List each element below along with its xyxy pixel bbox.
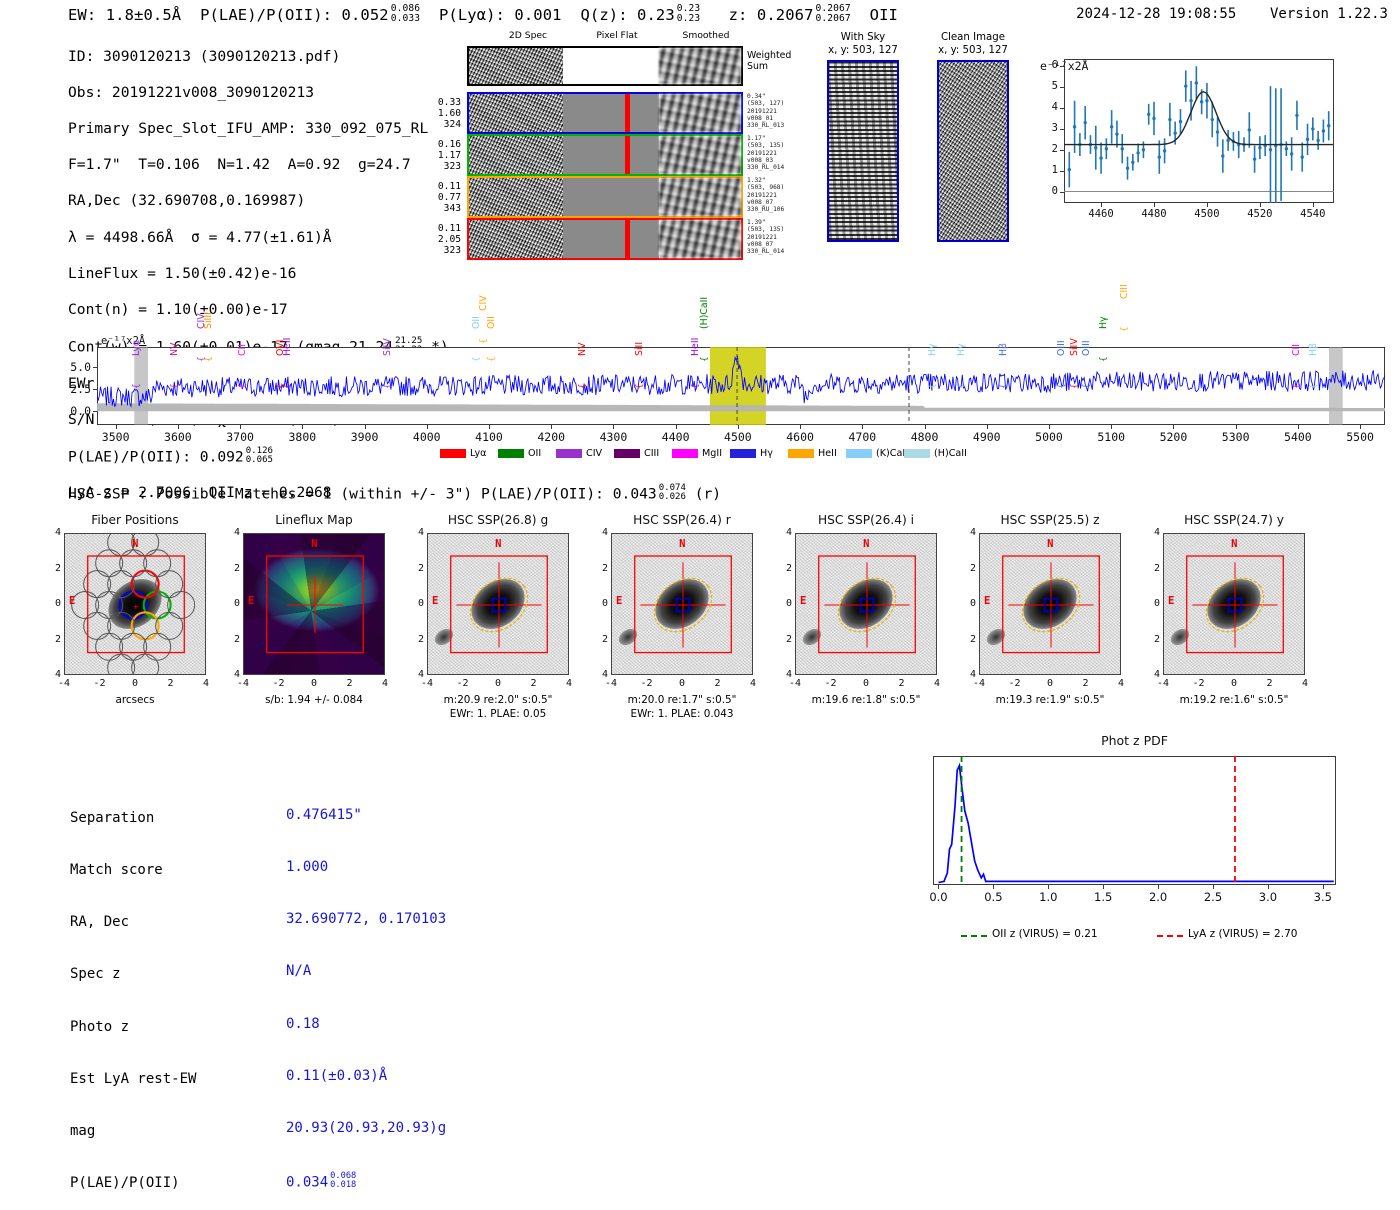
cutout-xtick-5-1: -2 bbox=[1004, 678, 1026, 689]
cutout-bottom-label1-4: m:19.6 re:1.8" s:0.5" bbox=[765, 694, 967, 706]
cutout-image-3[interactable] bbox=[611, 533, 753, 675]
linefit-ytick bbox=[1060, 108, 1064, 109]
emission-line-label-SiIV: SiIV bbox=[382, 338, 393, 356]
info-line-lambda-sigma: λ = 4498.66Å σ = 4.77(±1.61)Å bbox=[68, 229, 449, 247]
linefit-ytick bbox=[1060, 171, 1064, 172]
cutout-xtick-5-4: 4 bbox=[1110, 678, 1132, 689]
table-label-spec-z: Spec z bbox=[70, 966, 196, 983]
with-sky-title: With Sky bbox=[815, 32, 911, 44]
linefit-ytick-label: 0 bbox=[1042, 185, 1058, 197]
cutout-xtick-5-2: 0 bbox=[1039, 678, 1061, 689]
spectrum-xtick-label: 3600 bbox=[156, 430, 200, 444]
spectrum-xtick bbox=[676, 425, 677, 429]
photz-xtick-label: 2.5 bbox=[1195, 890, 1231, 904]
emission-line-brace: { bbox=[132, 383, 142, 389]
spectrum-xtick bbox=[240, 425, 241, 429]
photz-xtick bbox=[1268, 885, 1269, 889]
emission-line-label-H: Hγ bbox=[1098, 316, 1109, 329]
cutout-ytick-6-4: 4 bbox=[1146, 669, 1160, 680]
linefit-xtick bbox=[1154, 203, 1155, 207]
emission-line-brace: { bbox=[1292, 383, 1302, 389]
with-sky-subtitle: x, y: 503, 127 bbox=[808, 45, 918, 57]
cutout-ytick-1-3: 2 bbox=[226, 634, 240, 645]
photz-xtick bbox=[1103, 885, 1104, 889]
cutout-xtick-3-3: 2 bbox=[707, 678, 729, 689]
emission-line-brace: { bbox=[238, 383, 248, 389]
legend-swatch-KCaII bbox=[846, 449, 872, 458]
emission-line-label-OII: OII bbox=[486, 316, 497, 329]
spectrum-xtick bbox=[1236, 425, 1237, 429]
cutout-xtick-6-1: -2 bbox=[1188, 678, 1210, 689]
legend-swatch-MgII bbox=[672, 449, 698, 458]
cutout-xtick-1-4: 4 bbox=[374, 678, 396, 689]
table-value-mag: 20.93(20.93,20.93)g bbox=[286, 1120, 446, 1137]
photz-xtick-label: 1.5 bbox=[1085, 890, 1121, 904]
spectrum-ytick bbox=[93, 367, 97, 368]
emission-line-brace: { bbox=[999, 383, 1009, 389]
info-line-id: ID: 3090120213 (3090120213.pdf) bbox=[68, 48, 449, 66]
emission-line-label-HCaII: (H)CaII bbox=[699, 297, 710, 329]
info-plae-text: P(LAE)/P(OII): 0.092 bbox=[68, 448, 244, 465]
cutout-image-1[interactable] bbox=[243, 533, 385, 675]
header-timestamp: 2024-12-28 19:08:55 bbox=[1076, 6, 1236, 22]
photz-xtick bbox=[1158, 885, 1159, 889]
linefit-ytick-label: 6 bbox=[1042, 59, 1058, 71]
cutout-title-4: HSC SSP(26.4) i bbox=[773, 513, 959, 527]
spectrum-xtick bbox=[302, 425, 303, 429]
header-version: Version 1.22.3 bbox=[1270, 6, 1388, 22]
emission-line-brace: { bbox=[1120, 326, 1130, 332]
cutout-bottom-label1-6: m:19.2 re:1.6" s:0.5" bbox=[1133, 694, 1335, 706]
with-sky-image bbox=[827, 60, 899, 242]
linefit-xtick bbox=[1101, 203, 1102, 207]
table-value-radec: 32.690772, 0.170103 bbox=[286, 911, 446, 928]
cutout-image-5[interactable] bbox=[979, 533, 1121, 675]
cutout-xtick-1-1: -2 bbox=[268, 678, 290, 689]
header-z-lo: 0.2067 bbox=[816, 14, 851, 24]
legend-swatch-H bbox=[730, 449, 756, 458]
table-value-separation: 0.476415" bbox=[286, 807, 446, 824]
cutout-east-label-1: E bbox=[248, 595, 254, 607]
photz-xtick bbox=[1323, 885, 1324, 889]
cutout-ytick-2-0: 4 bbox=[410, 527, 424, 538]
legend-swatch-HeII bbox=[788, 449, 814, 458]
cutout-east-label-3: E bbox=[616, 595, 622, 607]
spectrum-xtick-label: 5400 bbox=[1276, 430, 1320, 444]
emission-line-brace: { bbox=[170, 383, 180, 389]
cutout-ytick-0-4: 4 bbox=[47, 669, 61, 680]
emission-line-brace: { bbox=[928, 383, 938, 389]
header-ew: EW: 1.8±0.5Å bbox=[68, 6, 181, 24]
linefit-ytick-label: 5 bbox=[1042, 80, 1058, 92]
cutout-xtick-4-2: 0 bbox=[855, 678, 877, 689]
hscssp-header-text: HSC-SSP : Possible Matches = 1 (within +… bbox=[68, 486, 657, 503]
linefit-ytick bbox=[1060, 129, 1064, 130]
cutout-north-label-2: N bbox=[495, 538, 501, 550]
header-qz: Q(z): 0.23 bbox=[580, 6, 674, 24]
emission-line-brace: { bbox=[1309, 383, 1319, 389]
header-plya: P(Lyα): 0.001 bbox=[439, 6, 562, 24]
cutout-north-label-0: N bbox=[132, 538, 138, 550]
spec2d-montage: 2D Spec Pixel Flat Smoothed Weighted Sum… bbox=[425, 30, 825, 260]
cutout-xtick-2-3: 2 bbox=[523, 678, 545, 689]
hscssp-header-tail: (r) bbox=[695, 486, 721, 503]
spectrum-xtick bbox=[800, 425, 801, 429]
spec2d-weighted-sum-label-1: Weighted bbox=[747, 50, 791, 61]
cutout-xtick-0-3: 2 bbox=[160, 678, 182, 689]
photz-xtick bbox=[1048, 885, 1049, 889]
spectrum-xtick-label: 4100 bbox=[467, 430, 511, 444]
cutout-ytick-5-0: 4 bbox=[962, 527, 976, 538]
emission-line-brace: { bbox=[487, 356, 497, 362]
cutout-ytick-5-1: 2 bbox=[962, 563, 976, 574]
legend-swatch-CIV bbox=[556, 449, 582, 458]
spectrum-xtick-label: 4000 bbox=[405, 430, 449, 444]
cutout-ytick-4-3: 2 bbox=[778, 634, 792, 645]
spectrum-xtick bbox=[862, 425, 863, 429]
cutout-xtick-3-1: -2 bbox=[636, 678, 658, 689]
cutout-ytick-6-3: 2 bbox=[1146, 634, 1160, 645]
emission-line-label-H: Hγ bbox=[927, 343, 938, 356]
spec2d-row-3 bbox=[467, 176, 743, 218]
cutout-xtick-6-4: 4 bbox=[1294, 678, 1316, 689]
cutout-xtick-3-2: 0 bbox=[671, 678, 693, 689]
emission-line-label-CIV: CIV bbox=[478, 295, 489, 311]
cutout-title-2: HSC SSP(26.8) g bbox=[405, 513, 591, 527]
cutout-north-label-5: N bbox=[1047, 538, 1053, 550]
cutout-title-1: Lineflux Map bbox=[221, 513, 407, 527]
legend-swatch-Ly bbox=[440, 449, 466, 458]
spectrum-ytick-label: 5.0 bbox=[57, 360, 91, 374]
spec2d-weighted-sum-label-2: Sum bbox=[747, 61, 768, 72]
cutout-bottom-label1-1: s/b: 1.94 +/- 0.084 bbox=[213, 694, 415, 706]
cutout-ytick-3-0: 4 bbox=[594, 527, 608, 538]
legend-label-HCaII: (H)CaII bbox=[934, 448, 967, 459]
photz-legend-label: OII z (VIRUS) = 0.21 bbox=[992, 928, 1098, 940]
legend-label-CIII: CIII bbox=[644, 448, 659, 459]
spec2d-row-1-right: 0.34" (503, 127) 20191221 v008_01 330_RL… bbox=[747, 93, 784, 129]
linefit-xtick bbox=[1207, 203, 1208, 207]
cutout-ytick-1-0: 4 bbox=[226, 527, 240, 538]
spectrum-xtick-label: 4500 bbox=[716, 430, 760, 444]
linefit-xtick bbox=[1313, 203, 1314, 207]
table-label-radec: RA, Dec bbox=[70, 914, 196, 931]
legend-swatch-CIII bbox=[614, 449, 640, 458]
spectrum-xtick bbox=[1049, 425, 1050, 429]
spectrum-xtick-label: 4700 bbox=[840, 430, 884, 444]
photz-xtick-label: 3.5 bbox=[1305, 890, 1341, 904]
cutout-ytick-4-1: 2 bbox=[778, 563, 792, 574]
spectrum-xtick bbox=[427, 425, 428, 429]
photz-xtick-label: 1.0 bbox=[1030, 890, 1066, 904]
spectrum-xtick-label: 5100 bbox=[1089, 430, 1133, 444]
legend-label-CIV: CIV bbox=[586, 448, 602, 459]
cutout-title-6: HSC SSP(24.7) y bbox=[1141, 513, 1327, 527]
emission-line-label-NV: NV bbox=[577, 343, 588, 356]
spectrum-xtick-label: 3700 bbox=[218, 430, 262, 444]
table-value-match-score: 1.000 bbox=[286, 859, 446, 876]
cutout-image-4[interactable] bbox=[795, 533, 937, 675]
source-info-block: ID: 3090120213 (3090120213.pdf) Obs: 201… bbox=[68, 30, 449, 520]
table-label-photo-z: Photo z bbox=[70, 1019, 196, 1036]
cutout-ytick-6-2: 0 bbox=[1146, 598, 1160, 609]
cutout-ytick-0-3: 2 bbox=[47, 634, 61, 645]
spectrum-xtick-label: 5000 bbox=[1027, 430, 1071, 444]
header-qz-lo: 0.23 bbox=[677, 14, 701, 24]
linefit-xtick-label: 4480 bbox=[1138, 208, 1170, 220]
emission-line-label-SiIII: SiIII bbox=[203, 312, 214, 329]
cutout-xtick-2-1: -2 bbox=[452, 678, 474, 689]
spectrum-xtick bbox=[1298, 425, 1299, 429]
cutout-north-label-3: N bbox=[679, 538, 685, 550]
cutout-ytick-1-1: 2 bbox=[226, 563, 240, 574]
linefit-ytick bbox=[1060, 192, 1064, 193]
cutout-ytick-1-2: 0 bbox=[226, 598, 240, 609]
cutout-north-label-4: N bbox=[863, 538, 869, 550]
legend-label-MgII: MgII bbox=[702, 448, 722, 459]
cutout-image-0[interactable]: + bbox=[64, 533, 206, 675]
emission-line-brace: { bbox=[1057, 383, 1067, 389]
cutout-xtick-3-4: 4 bbox=[742, 678, 764, 689]
cutout-xtick-6-2: 0 bbox=[1223, 678, 1245, 689]
spectrum-xtick bbox=[1173, 425, 1174, 429]
emission-line-brace: { bbox=[1082, 383, 1092, 389]
linefit-ytick bbox=[1060, 66, 1064, 67]
table-value-est-lya-rest-ew: 0.11(±0.03)Å bbox=[286, 1068, 446, 1085]
linefit-ytick bbox=[1060, 87, 1064, 88]
cutout-ytick-2-1: 2 bbox=[410, 563, 424, 574]
cutout-ytick-3-2: 0 bbox=[594, 598, 608, 609]
cutout-ytick-4-0: 4 bbox=[778, 527, 792, 538]
header-plae-poii-lo: 0.033 bbox=[391, 14, 420, 24]
cutout-bottom-label1-0: arcsecs bbox=[34, 694, 236, 706]
table-plae-lo: 0.018 bbox=[330, 1181, 356, 1190]
photz-xtick bbox=[993, 885, 994, 889]
table-value-photo-z: 0.18 bbox=[286, 1016, 446, 1033]
emission-line-brace: { bbox=[479, 338, 489, 344]
cutout-ytick-2-3: 2 bbox=[410, 634, 424, 645]
spec2d-row-3-right: 1.32" (503, 968) 20191221 v008_07 330_RU… bbox=[747, 177, 784, 213]
legend-swatch-HCaII bbox=[904, 449, 930, 458]
spectrum-xtick-label: 3800 bbox=[280, 430, 324, 444]
linefit-xtick-label: 4520 bbox=[1244, 208, 1276, 220]
cutout-east-label-6: E bbox=[1168, 595, 1174, 607]
info-line-radec: RA,Dec (32.690708,0.169987) bbox=[68, 192, 449, 210]
emission-line-brace: { bbox=[383, 383, 393, 389]
spectrum-xtick bbox=[738, 425, 739, 429]
cutout-ytick-3-4: 4 bbox=[594, 669, 608, 680]
spec2d-row-2-right: 1.17" (503, 135) 20191221 v008_03 330_RL… bbox=[747, 135, 784, 171]
svg-text:+: + bbox=[133, 602, 139, 612]
spectrum-xtick bbox=[987, 425, 988, 429]
cutout-ytick-6-0: 4 bbox=[1146, 527, 1160, 538]
legend-label-HeII: HeII bbox=[818, 448, 837, 459]
spectrum-xtick-label: 4600 bbox=[778, 430, 822, 444]
legend-swatch-OII bbox=[498, 449, 524, 458]
cutout-xtick-4-4: 4 bbox=[926, 678, 948, 689]
cutout-ytick-6-1: 2 bbox=[1146, 563, 1160, 574]
spectrum-xtick bbox=[489, 425, 490, 429]
linefit-ytick-label: 2 bbox=[1042, 143, 1058, 155]
emission-line-label-SiII: SiII bbox=[634, 342, 645, 356]
linefit-ytick-label: 1 bbox=[1042, 164, 1058, 176]
cutout-ytick-2-2: 0 bbox=[410, 598, 424, 609]
emission-line-brace: { bbox=[472, 356, 482, 362]
main-spectrum-legend: LyαOIICIVCIIIMgIIHγHeII(K)CaII(H)CaII bbox=[440, 447, 960, 461]
spec2d-row-4 bbox=[467, 218, 743, 260]
match-table-values: 0.476415" 1.000 32.690772, 0.170103 N/A … bbox=[286, 772, 446, 1209]
cutout-xtick-4-1: -2 bbox=[820, 678, 842, 689]
cutout-bottom-label2-2: EWr: 1. PLAE: 0.05 bbox=[397, 708, 599, 720]
cutout-ytick-5-2: 0 bbox=[962, 598, 976, 609]
cutout-ytick-4-2: 0 bbox=[778, 598, 792, 609]
linefit-xtick-label: 4500 bbox=[1191, 208, 1223, 220]
spectrum-xtick-label: 4900 bbox=[965, 430, 1009, 444]
spec2d-row-1-left: 0.33 1.60 324 bbox=[425, 97, 461, 131]
cutout-ytick-4-4: 4 bbox=[778, 669, 792, 680]
table-label-match-score: Match score bbox=[70, 862, 196, 879]
emission-line-brace: { bbox=[957, 383, 967, 389]
emission-line-label-NV: NV bbox=[169, 343, 180, 356]
header-z-type: OII bbox=[870, 6, 898, 24]
cutout-bottom-label1-3: m:20.0 re:1.7" s:0.5" bbox=[581, 694, 783, 706]
photz-xtick bbox=[1213, 885, 1214, 889]
cutout-xtick-1-3: 2 bbox=[339, 678, 361, 689]
spectrum-xtick bbox=[365, 425, 366, 429]
cutout-ytick-0-1: 2 bbox=[47, 563, 61, 574]
spectrum-xtick-label: 5200 bbox=[1151, 430, 1195, 444]
hscssp-header: HSC-SSP : Possible Matches = 1 (within +… bbox=[68, 484, 721, 503]
cutout-xtick-5-3: 2 bbox=[1075, 678, 1097, 689]
photz-legend-label: LyA z (VIRUS) = 2.70 bbox=[1188, 928, 1297, 940]
photz-title: Phot z PDF bbox=[933, 733, 1336, 748]
emission-line-brace: { bbox=[1070, 383, 1080, 389]
cutout-xtick-4-3: 2 bbox=[891, 678, 913, 689]
header-plae-poii: P(LAE)/P(OII): 0.052 bbox=[200, 6, 389, 24]
cutout-east-label-5: E bbox=[984, 595, 990, 607]
cutout-east-label-4: E bbox=[800, 595, 806, 607]
emission-line-label-CII: CII bbox=[1291, 344, 1302, 356]
info-line-lineflux: LineFlux = 1.50(±0.42)e-16 bbox=[68, 265, 449, 283]
cutout-xtick-0-1: -2 bbox=[89, 678, 111, 689]
emission-line-brace: { bbox=[700, 356, 710, 362]
emission-line-label-H: Hβ bbox=[1308, 343, 1319, 356]
cutout-ytick-1-4: 4 bbox=[226, 669, 240, 680]
info-plae-lo: 0.065 bbox=[246, 456, 273, 465]
spec2d-row-4-left: 0.11 2.05 323 bbox=[425, 223, 461, 257]
emission-line-label-HeII: HeII bbox=[690, 338, 701, 356]
spec2d-col-title-smoothed: Smoothed bbox=[661, 30, 751, 41]
header-timestamp-version: 2024-12-28 19:08:55 Version 1.22.3 bbox=[1076, 6, 1388, 22]
emission-line-brace: { bbox=[691, 383, 701, 389]
spec2d-row-2 bbox=[467, 134, 743, 176]
cutout-east-label-2: E bbox=[432, 595, 438, 607]
spectrum-xtick-label: 5500 bbox=[1338, 430, 1382, 444]
spectrum-xtick-label: 3500 bbox=[94, 430, 138, 444]
info-line-obs: Obs: 20191221v008_3090120213 bbox=[68, 84, 449, 102]
table-label-separation: Separation bbox=[70, 810, 196, 827]
spec2d-row-3-left: 0.11 0.77 343 bbox=[425, 181, 461, 215]
cutout-xtick-6-3: 2 bbox=[1259, 678, 1281, 689]
spectrum-xtick bbox=[925, 425, 926, 429]
spectrum-xtick bbox=[551, 425, 552, 429]
linefit-xtick bbox=[1260, 203, 1261, 207]
clean-image-image bbox=[937, 60, 1009, 242]
linefit-ytick-label: 4 bbox=[1042, 101, 1058, 113]
spec2d-row-4-right: 1.39" (503, 135) 20191221 v008_07 330_RL… bbox=[747, 219, 784, 255]
emission-line-brace: { bbox=[635, 383, 645, 389]
emission-line-brace: { bbox=[578, 383, 588, 389]
cutout-east-label-0: E bbox=[69, 595, 75, 607]
cutout-ytick-0-0: 4 bbox=[47, 527, 61, 538]
cutout-image-2[interactable] bbox=[427, 533, 569, 675]
spec2d-row-2-left: 0.16 1.17 323 bbox=[425, 139, 461, 173]
photz-legend: OII z (VIRUS) = 0.21LyA z (VIRUS) = 2.70 bbox=[960, 928, 1320, 942]
cutout-ytick-5-4: 4 bbox=[962, 669, 976, 680]
cutout-bottom-label1-2: m:20.9 re:2.0" s:0.5" bbox=[397, 694, 599, 706]
cutout-title-0: Fiber Positions bbox=[42, 513, 228, 527]
emission-line-label-OII: OII bbox=[471, 316, 482, 329]
cutout-xtick-2-2: 0 bbox=[487, 678, 509, 689]
cutout-ytick-2-4: 4 bbox=[410, 669, 424, 680]
linefit-ytick bbox=[1060, 150, 1064, 151]
legend-label-Ly: Lyα bbox=[470, 448, 486, 459]
spectrum-xtick-label: 3900 bbox=[343, 430, 387, 444]
linefit-xtick-label: 4460 bbox=[1085, 208, 1117, 220]
table-value-plae-poii: 0.0340.0680.018 bbox=[286, 1172, 446, 1192]
photz-xtick-label: 0.5 bbox=[975, 890, 1011, 904]
clean-image-subtitle: x, y: 503, 127 bbox=[918, 45, 1028, 57]
cutout-xtick-0-4: 4 bbox=[195, 678, 217, 689]
cutout-ytick-0-2: 0 bbox=[47, 598, 61, 609]
emission-line-brace: { bbox=[283, 383, 293, 389]
spectrum-xtick-label: 4200 bbox=[529, 430, 573, 444]
spectrum-xtick-label: 4800 bbox=[903, 430, 947, 444]
table-value-spec-z: N/A bbox=[286, 963, 446, 980]
cutout-ytick-3-3: 2 bbox=[594, 634, 608, 645]
photz-xtick-label: 3.0 bbox=[1250, 890, 1286, 904]
info-line-cont-n: Cont(n) = 1.10(±0.00)e-17 bbox=[68, 301, 449, 319]
info-line-primary-spec: Primary Spec_Slot_IFU_AMP: 330_092_075_R… bbox=[68, 120, 449, 138]
spectrum-xtick bbox=[178, 425, 179, 429]
clean-image-title: Clean Image bbox=[918, 32, 1028, 44]
emission-line-label-H: Hβ bbox=[998, 343, 1009, 356]
table-label-est-lya-rest-ew: Est LyA rest-EW bbox=[70, 1071, 196, 1088]
spectrum-xtick-label: 4400 bbox=[654, 430, 698, 444]
info-line-plae: P(LAE)/P(OII): 0.0920.1260.065 bbox=[68, 447, 449, 467]
table-label-plae-poii: P(LAE)/P(OII) bbox=[70, 1175, 196, 1192]
emission-line-label-OIII: OIII bbox=[1081, 340, 1092, 356]
cutout-title-5: HSC SSP(25.5) z bbox=[957, 513, 1143, 527]
header-summary-line: EW: 1.8±0.5Å P(LAE)/P(OII): 0.0520.0860.… bbox=[68, 4, 898, 24]
emission-line-label-SiIV: SiIV bbox=[1069, 338, 1080, 356]
spectrum-ytick bbox=[93, 411, 97, 412]
cutout-xtick-2-4: 4 bbox=[558, 678, 580, 689]
spec2d-row-1 bbox=[467, 92, 743, 134]
info-line-params: F=1.7" T=0.106 N=1.42 A=0.92 g=24.7 bbox=[68, 156, 449, 174]
spec2d-weighted-sum-row bbox=[467, 46, 743, 86]
emission-line-label-OIII: OIII bbox=[1056, 340, 1067, 356]
photz-xtick bbox=[938, 885, 939, 889]
hscssp-header-lo: 0.026 bbox=[659, 493, 686, 502]
cutout-image-6[interactable] bbox=[1163, 533, 1305, 675]
emission-line-label-Ly: Lyα bbox=[131, 340, 142, 356]
header-z: z: 0.2067 bbox=[729, 6, 814, 24]
spec2d-col-title-2dspec: 2D Spec bbox=[483, 30, 573, 41]
linefit-xtick-label: 4540 bbox=[1297, 208, 1329, 220]
cutout-xtick-0-2: 0 bbox=[124, 678, 146, 689]
cutout-ytick-3-1: 2 bbox=[594, 563, 608, 574]
